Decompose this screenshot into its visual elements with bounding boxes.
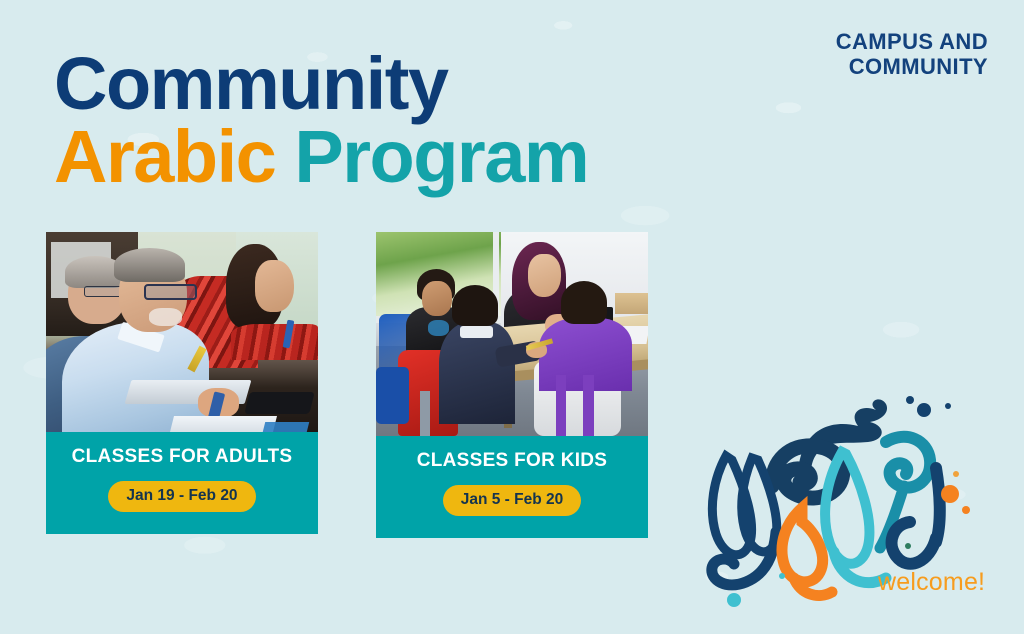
calligraphy-letter-nun-bowl	[892, 522, 936, 564]
photo-kids-table-items	[615, 293, 648, 313]
photo-adults-blue-folder	[262, 422, 308, 432]
welcome-label: welcome!	[878, 568, 985, 597]
card-caption-adults: CLASSES FOR ADULTS Jan 19 - Feb 20	[46, 432, 318, 534]
calligraphy-letter-waw	[782, 508, 823, 582]
ink-dot-orange-2	[962, 506, 970, 514]
photo-kids-teacher-face	[528, 254, 561, 297]
card-classes-for-kids[interactable]: CLASSES FOR KIDS Jan 5 - Feb 20	[376, 232, 648, 538]
ink-dot-teal-2	[727, 593, 741, 607]
kicker-line-2: COMMUNITY	[836, 55, 988, 80]
photo-kids-chair-white-slot-right	[583, 375, 594, 436]
photo-adults-case	[245, 392, 316, 414]
photo-kids-child-navy-polo-hair	[452, 285, 498, 326]
poster-canvas: CAMPUS AND COMMUNITY Community Arabic Pr…	[0, 0, 1024, 634]
title-word-arabic: Arabic	[54, 115, 275, 198]
photo-adults-person-plaid-blue-glasses	[84, 286, 124, 297]
title-line-arabic-program: Arabic Program	[54, 121, 588, 194]
photo-kids-chair-red-slot	[420, 391, 431, 436]
page-title: Community Arabic Program	[54, 48, 588, 193]
title-line-community: Community	[54, 48, 588, 121]
kicker-line-1: CAMPUS AND	[836, 30, 988, 55]
photo-kids-child-navy-polo-collar	[460, 326, 493, 338]
card-classes-for-adults[interactable]: CLASSES FOR ADULTS Jan 19 - Feb 20	[46, 232, 318, 534]
kicker-label: CAMPUS AND COMMUNITY	[836, 30, 988, 79]
caption-title-adults: CLASSES FOR ADULTS	[56, 446, 308, 468]
title-word-program: Program	[294, 115, 588, 198]
photo-kids-child-black-shirt-face	[422, 281, 452, 316]
ink-dot-orange-3	[953, 471, 959, 477]
photo-adults-foreground-man-hair	[114, 248, 185, 282]
photo-kids-classroom	[376, 232, 648, 436]
ink-dot-navy-1	[906, 396, 914, 404]
photo-adults-woman-face	[255, 260, 293, 312]
date-badge-kids[interactable]: Jan 5 - Feb 20	[443, 485, 582, 516]
photo-kids-child-black-shirt-print	[428, 320, 450, 336]
ink-dot-navy-2	[917, 403, 931, 417]
photo-adults-woman-arm	[231, 324, 318, 360]
photo-kids-child-purple-shirt-hair	[561, 281, 607, 324]
ink-dot-teal-1	[779, 573, 785, 579]
caption-title-kids: CLASSES FOR KIDS	[386, 450, 638, 472]
ink-dot-green-1	[905, 543, 911, 549]
photo-kids-chair-blue-lower	[376, 367, 409, 424]
photo-adults-foreground-man-glasses	[144, 284, 197, 300]
photo-kids-chair-white-slot-left	[556, 375, 567, 436]
calligraphy-letter-alif-right	[936, 468, 940, 542]
date-badge-adults[interactable]: Jan 19 - Feb 20	[108, 481, 255, 512]
photo-adults-foreground-man-beard	[149, 308, 182, 326]
ink-dot-orange-1	[941, 485, 959, 503]
card-caption-kids: CLASSES FOR KIDS Jan 5 - Feb 20	[376, 436, 648, 538]
photo-adults-classroom	[46, 232, 318, 432]
photo-adults-papers-front	[168, 416, 277, 432]
ink-dot-navy-3	[945, 403, 951, 409]
calligraphy-letter-ha-teal	[886, 437, 930, 488]
